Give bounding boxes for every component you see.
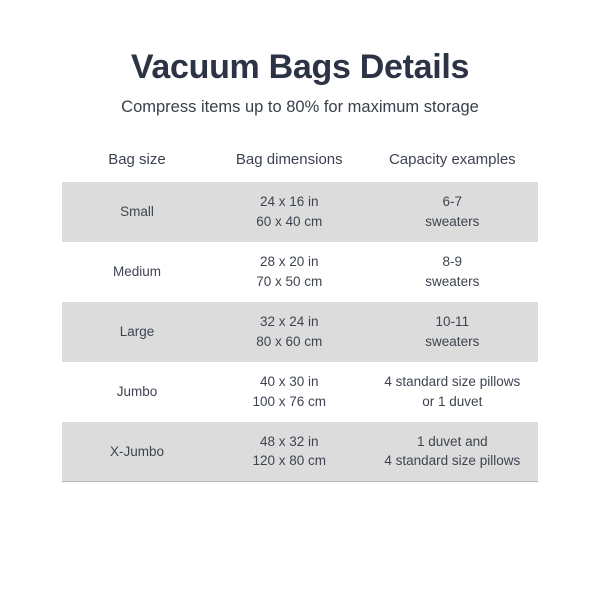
cell-bag-size: Small xyxy=(62,182,212,242)
dimensions-metric: 60 x 40 cm xyxy=(212,212,367,232)
cell-bag-size: Jumbo xyxy=(62,362,212,422)
page-subtitle: Compress items up to 80% for maximum sto… xyxy=(0,97,600,118)
dimensions-metric: 70 x 50 cm xyxy=(212,272,367,292)
dimensions-imperial: 40 x 30 in xyxy=(212,372,367,392)
capacity-line-1: 4 standard size pillows xyxy=(367,372,538,392)
table-row: Large 32 x 24 in 80 x 60 cm 10-11 sweate… xyxy=(62,302,538,362)
cell-bag-dimensions: 28 x 20 in 70 x 50 cm xyxy=(212,242,367,302)
cell-capacity-examples: 8-9 sweaters xyxy=(367,242,538,302)
dimensions-imperial: 48 x 32 in xyxy=(212,432,367,452)
cell-capacity-examples: 6-7 sweaters xyxy=(367,182,538,242)
spec-table-container: Bag size Bag dimensions Capacity example… xyxy=(62,151,538,483)
cell-bag-size: X-Jumbo xyxy=(62,422,212,482)
cell-capacity-examples: 10-11 sweaters xyxy=(367,302,538,362)
capacity-line-2: 4 standard size pillows xyxy=(367,451,538,471)
capacity-line-2: sweaters xyxy=(367,212,538,232)
capacity-line-1: 1 duvet and xyxy=(367,432,538,452)
product-spec-infographic: Vacuum Bags Details Compress items up to… xyxy=(0,0,600,600)
dimensions-metric: 80 x 60 cm xyxy=(212,332,367,352)
bag-specifications-table: Bag size Bag dimensions Capacity example… xyxy=(62,151,538,483)
cell-bag-size: Medium xyxy=(62,242,212,302)
table-header-row: Bag size Bag dimensions Capacity example… xyxy=(62,151,538,182)
cell-bag-size: Large xyxy=(62,302,212,362)
column-header-bag-dimensions: Bag dimensions xyxy=(212,151,367,182)
cell-capacity-examples: 4 standard size pillows or 1 duvet xyxy=(367,362,538,422)
dimensions-metric: 120 x 80 cm xyxy=(212,451,367,471)
capacity-line-2: or 1 duvet xyxy=(367,392,538,412)
table-row: Small 24 x 16 in 60 x 40 cm 6-7 sweaters xyxy=(62,182,538,242)
cell-bag-dimensions: 32 x 24 in 80 x 60 cm xyxy=(212,302,367,362)
cell-capacity-examples: 1 duvet and 4 standard size pillows xyxy=(367,422,538,482)
capacity-line-1: 8-9 xyxy=(367,252,538,272)
capacity-line-1: 6-7 xyxy=(367,192,538,212)
table-row: Jumbo 40 x 30 in 100 x 76 cm 4 standard … xyxy=(62,362,538,422)
table-header: Bag size Bag dimensions Capacity example… xyxy=(62,151,538,182)
column-header-capacity-examples: Capacity examples xyxy=(367,151,538,182)
dimensions-imperial: 24 x 16 in xyxy=(212,192,367,212)
dimensions-metric: 100 x 76 cm xyxy=(212,392,367,412)
dimensions-imperial: 28 x 20 in xyxy=(212,252,367,272)
dimensions-imperial: 32 x 24 in xyxy=(212,312,367,332)
cell-bag-dimensions: 48 x 32 in 120 x 80 cm xyxy=(212,422,367,482)
page-title: Vacuum Bags Details xyxy=(0,48,600,87)
header-block: Vacuum Bags Details Compress items up to… xyxy=(0,0,600,119)
table-body: Small 24 x 16 in 60 x 40 cm 6-7 sweaters… xyxy=(62,182,538,482)
table-row: X-Jumbo 48 x 32 in 120 x 80 cm 1 duvet a… xyxy=(62,422,538,482)
cell-bag-dimensions: 40 x 30 in 100 x 76 cm xyxy=(212,362,367,422)
capacity-line-2: sweaters xyxy=(367,332,538,352)
capacity-line-1: 10-11 xyxy=(367,312,538,332)
column-header-bag-size: Bag size xyxy=(62,151,212,182)
table-row: Medium 28 x 20 in 70 x 50 cm 8-9 sweater… xyxy=(62,242,538,302)
capacity-line-2: sweaters xyxy=(367,272,538,292)
cell-bag-dimensions: 24 x 16 in 60 x 40 cm xyxy=(212,182,367,242)
